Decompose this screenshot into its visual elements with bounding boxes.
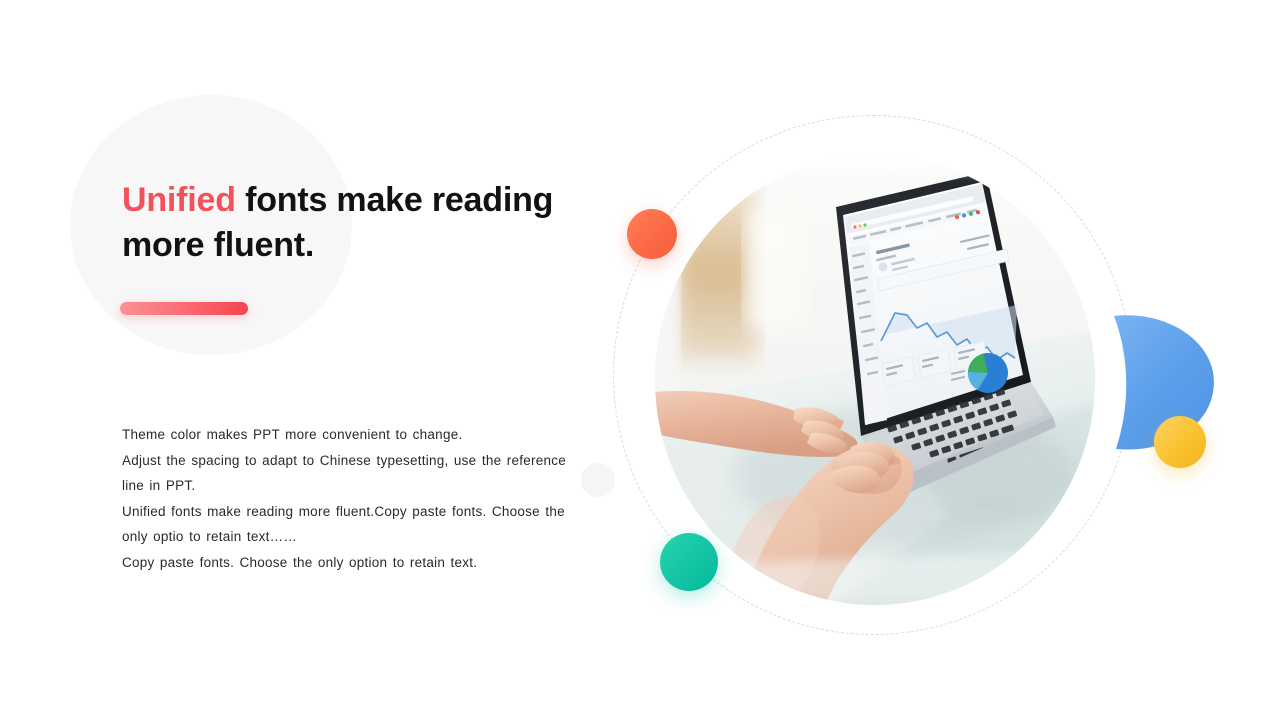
- heading-underline-bar: [120, 302, 248, 315]
- body-paragraph-1: Theme color makes PPT more convenient to…: [122, 422, 592, 448]
- decorative-yellow-dot: [1154, 416, 1206, 468]
- heading-accent-word: Unified: [122, 181, 236, 219]
- decorative-gray-dot: [581, 463, 615, 497]
- page-title: Unified fonts make reading more fluent.: [122, 178, 642, 268]
- decorative-orange-dot: [627, 209, 677, 259]
- presentation-slide: Unified fonts make reading more fluent. …: [0, 0, 1280, 720]
- body-paragraph-2: Adjust the spacing to adapt to Chinese t…: [122, 448, 592, 499]
- laptop-photo: [655, 155, 1095, 605]
- decorative-teal-dot: [660, 533, 718, 591]
- body-copy-block: Theme color makes PPT more convenient to…: [122, 422, 592, 575]
- laptop-photo-illustration: [655, 155, 1095, 605]
- body-paragraph-3: Unified fonts make reading more fluent.C…: [122, 499, 592, 550]
- body-paragraph-4: Copy paste fonts. Choose the only option…: [122, 550, 592, 576]
